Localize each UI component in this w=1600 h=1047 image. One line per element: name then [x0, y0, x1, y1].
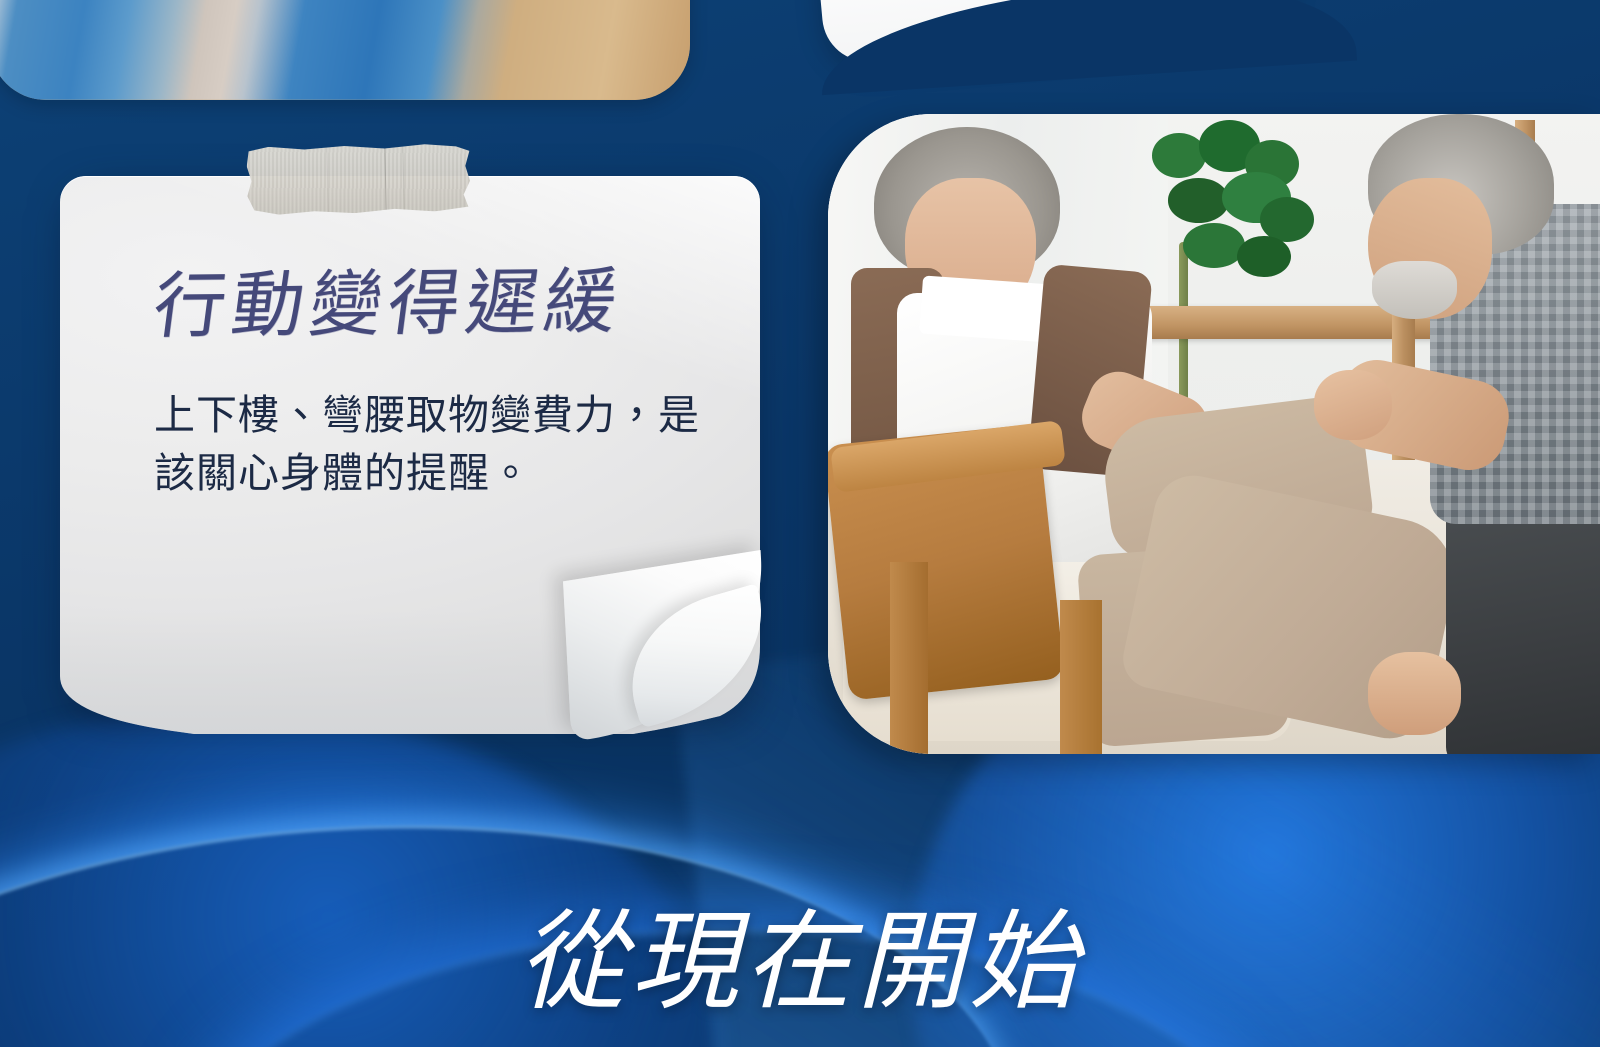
masking-tape-icon [246, 143, 470, 216]
note-card-paper: 行動變得遲緩 上下樓、彎腰取物變費力，是該關心身體的提醒。 [60, 176, 760, 734]
photo-man-trousers [1446, 485, 1600, 754]
photo-man-beard [1372, 261, 1457, 319]
previous-slide-note-peek [795, 0, 1294, 66]
photo-plant-leaf [1152, 133, 1206, 178]
note-card: 行動變得遲緩 上下樓、彎腰取物變費力，是該關心身體的提醒。 [60, 176, 760, 734]
photo-plant-leaf [1237, 236, 1291, 278]
tape-crease-b [402, 144, 404, 212]
bottom-headline: 從現在開始 [0, 905, 1600, 1022]
photo-card [828, 114, 1600, 754]
tape-crease-a [385, 144, 387, 212]
tape-crease-c [327, 146, 329, 214]
photo-woman-collar [919, 276, 1054, 343]
jeans-photo-overlay [0, 0, 690, 100]
slide-canvas: 行動變得遲緩 上下樓、彎腰取物變費力，是該關心身體的提醒。 [0, 0, 1600, 1047]
previous-slide-photo-peek [0, 0, 690, 100]
photo-chair-leg [1060, 600, 1102, 754]
photo-man-hand-upper [1314, 370, 1391, 440]
photo-chair-leg [890, 562, 929, 754]
note-body-text: 上下樓、彎腰取物變費力，是該關心身體的提醒。 [154, 386, 704, 502]
photo-plant-leaf [1168, 178, 1230, 223]
note-card-content: 行動變得遲緩 上下樓、彎腰取物變費力，是該關心身體的提醒。 [60, 176, 760, 734]
note-handwritten-title: 行動變得遲緩 [149, 264, 709, 342]
photo-man-hand-lower [1368, 652, 1461, 735]
photo-elderly-couple [828, 114, 1600, 754]
photo-plant-leaf [1183, 223, 1245, 268]
